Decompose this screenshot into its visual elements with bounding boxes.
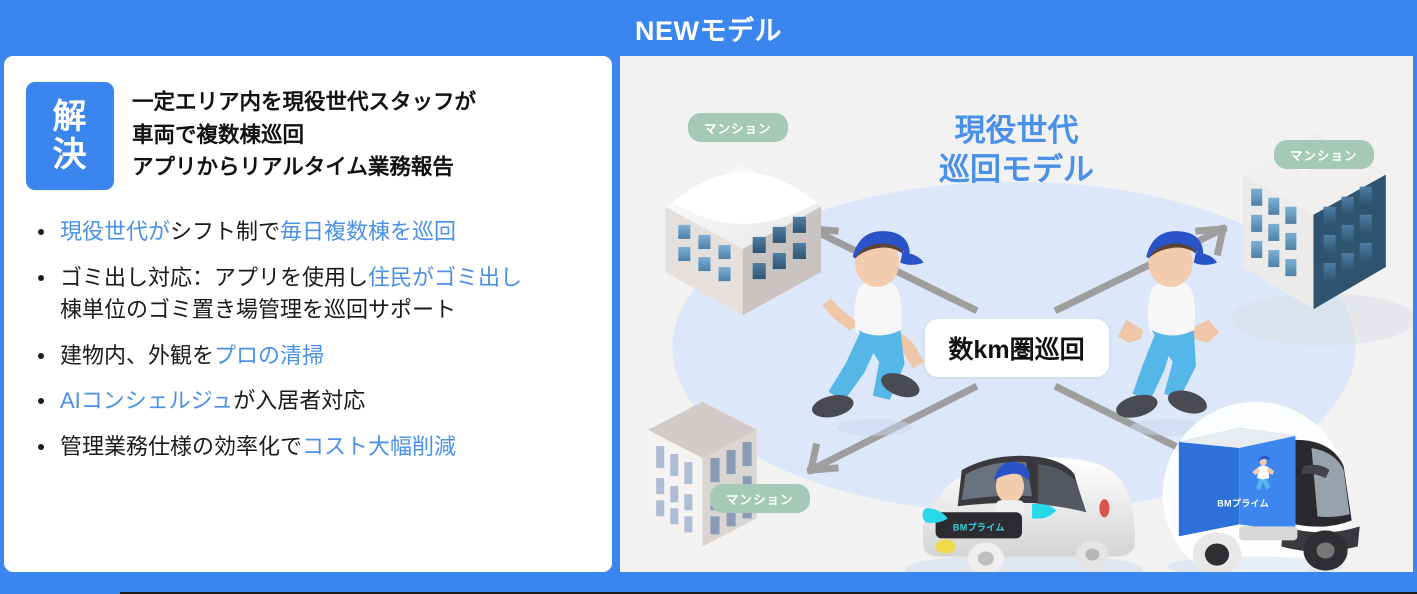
diagram-title: 現役世代 巡回モデル [620,112,1413,190]
vehicle-delivery-trike: BMプライム [1163,402,1360,572]
list-item: AIコンシェルジュが入居者対応 [30,385,590,418]
center-radius-label: 数km圏巡回 [924,319,1108,377]
heading-line-1: 一定エリア内を現役世代スタッフが [132,86,476,119]
bullet-2-seg-2: 住民がゴミ出し [368,265,522,290]
bullet-3-seg-2: プロの清掃 [214,343,324,368]
building-bottom-left [648,402,757,547]
building-label-bottom-left: マンション [710,484,810,513]
bullet-2-seg-1: ゴミ出し対応：アプリを使用し [60,265,368,290]
bullet-2-continuation: 棟単位のゴミ置き場管理を巡回サポート [60,294,590,327]
solution-panel: 解 決 一定エリア内を現役世代スタッフが 車両で複数棟巡回 アプリからリアルタイ… [4,56,612,572]
heading-line-2: 車両で複数棟巡回 [132,119,476,152]
list-item: 建物内、外観をプロの清掃 [30,340,590,373]
bullet-5-seg-2: コスト大幅削減 [302,434,456,459]
bullet-3-seg-1: 建物内、外観を [60,343,214,368]
page-title: NEWモデル [635,9,782,48]
bullet-dot-icon [38,353,44,359]
panels-container: 解 決 一定エリア内を現役世代スタッフが 車両で複数棟巡回 アプリからリアルタイ… [0,56,1417,583]
diagram-panel: BMプライム [620,56,1413,572]
list-item: ゴミ出し対応：アプリを使用し住民がゴミ出し 棟単位のゴミ置き場管理を巡回サポート [30,262,590,327]
bullet-1-seg-2: シフト制で [170,219,280,244]
solution-header: 解 決 一定エリア内を現役世代スタッフが 車両で複数棟巡回 アプリからリアルタイ… [26,82,590,190]
microcar-brand-text: BMプライム [953,521,1005,532]
bullet-dot-icon [38,398,44,404]
diagram-title-line-1: 現役世代 [620,112,1413,151]
feature-bullet-list: 現役世代がシフト制で毎日複数棟を巡回 ゴミ出し対応：アプリを使用し住民がゴミ出し… [26,216,590,463]
heading-line-3: アプリからリアルタイム業務報告 [132,151,476,184]
badge-char-1: 解 [53,98,88,136]
bullet-dot-icon [38,444,44,450]
solution-heading: 一定エリア内を現役世代スタッフが 車両で複数棟巡回 アプリからリアルタイム業務報… [132,82,476,184]
bullet-4-seg-2: が入居者対応 [233,388,365,413]
list-item: 管理業務仕様の効率化でコスト大幅削減 [30,431,590,464]
bullet-dot-icon [38,275,44,281]
bullet-5-seg-1: 管理業務仕様の効率化で [60,434,302,459]
trike-brand-text: BMプライム [1217,497,1269,508]
diagram-title-line-2: 巡回モデル [620,151,1413,190]
list-item: 現役世代がシフト制で毎日複数棟を巡回 [30,216,590,249]
badge-char-2: 決 [53,136,88,174]
bullet-1-seg-1: 現役世代が [60,219,170,244]
bullet-dot-icon [38,229,44,235]
solution-badge: 解 決 [26,82,114,190]
header-bar: NEWモデル [0,0,1417,56]
bullet-1-seg-3: 毎日複数棟を巡回 [280,219,456,244]
bullet-4-seg-1: AIコンシェルジュ [60,388,233,413]
